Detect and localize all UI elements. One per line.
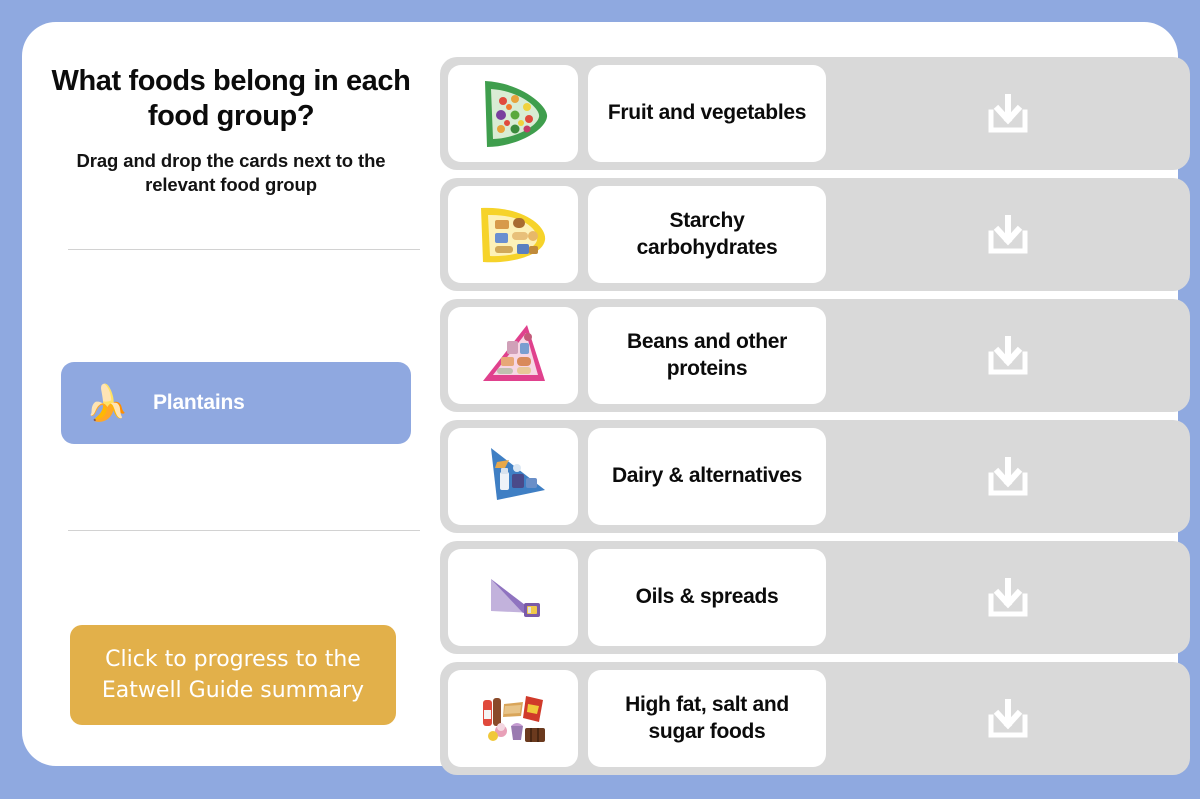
food-group-label: High fat, salt and sugar foods xyxy=(598,692,816,746)
download-icon[interactable] xyxy=(985,92,1031,136)
page-subtitle: Drag and drop the cards next to the rele… xyxy=(44,135,418,198)
eatwell-segment-oils-spreads-icon xyxy=(471,561,555,635)
download-icon[interactable] xyxy=(985,697,1031,741)
food-group-label: Starchy carbohydrates xyxy=(598,208,816,262)
progress-to-summary-button[interactable]: Click to progress to the Eatwell Guide s… xyxy=(70,625,396,725)
divider-top xyxy=(68,249,420,250)
food-group-drop-zone[interactable] xyxy=(826,541,1190,654)
food-group-row[interactable]: Fruit and vegetables xyxy=(440,57,1190,170)
food-group-list: Fruit and vegetables xyxy=(440,57,1190,783)
food-group-thumbnail-card xyxy=(448,428,578,525)
food-group-label-card: High fat, salt and sugar foods xyxy=(588,670,826,767)
draggable-card-label: Plantains xyxy=(153,391,245,415)
food-group-thumbnail-card xyxy=(448,549,578,646)
food-group-row[interactable]: Oils & spreads xyxy=(440,541,1190,654)
download-icon[interactable] xyxy=(985,213,1031,257)
download-icon[interactable] xyxy=(985,334,1031,378)
food-group-label: Fruit and vegetables xyxy=(608,100,806,127)
food-group-thumbnail-card xyxy=(448,307,578,404)
food-group-row[interactable]: Dairy & alternatives xyxy=(440,420,1190,533)
food-group-drop-zone[interactable] xyxy=(826,178,1190,291)
eatwell-segment-starchy-carbohydrates-icon xyxy=(471,198,555,272)
draggable-card-plantains[interactable]: 🍌 Plantains xyxy=(61,362,411,444)
banana-icon: 🍌 xyxy=(61,386,153,421)
food-group-label-card: Dairy & alternatives xyxy=(588,428,826,525)
food-group-row[interactable]: Beans and other proteins xyxy=(440,299,1190,412)
instructions-panel: What foods belong in each food group? Dr… xyxy=(44,34,418,754)
page-title: What foods belong in each food group? xyxy=(44,34,418,135)
slide-panel: What foods belong in each food group? Dr… xyxy=(22,22,1178,766)
food-group-label-card: Fruit and vegetables xyxy=(588,65,826,162)
download-icon[interactable] xyxy=(985,576,1031,620)
eatwell-segment-high-fat-salt-sugar-icon xyxy=(471,682,555,756)
food-group-drop-zone[interactable] xyxy=(826,299,1190,412)
food-group-label-card: Beans and other proteins xyxy=(588,307,826,404)
food-group-thumbnail-card xyxy=(448,65,578,162)
eatwell-segment-dairy-alternatives-icon xyxy=(471,440,555,514)
food-group-thumbnail-card xyxy=(448,186,578,283)
food-group-drop-zone[interactable] xyxy=(826,420,1190,533)
food-group-row[interactable]: Starchy carbohydrates xyxy=(440,178,1190,291)
download-icon[interactable] xyxy=(985,455,1031,499)
divider-bottom xyxy=(68,530,420,531)
food-group-row[interactable]: High fat, salt and sugar foods xyxy=(440,662,1190,775)
food-group-label-card: Starchy carbohydrates xyxy=(588,186,826,283)
eatwell-segment-beans-proteins-icon xyxy=(471,319,555,393)
food-group-label: Oils & spreads xyxy=(636,584,779,611)
eatwell-segment-fruit-vegetables-icon xyxy=(471,77,555,151)
food-group-drop-zone[interactable] xyxy=(826,662,1190,775)
food-group-label: Beans and other proteins xyxy=(598,329,816,383)
food-group-thumbnail-card xyxy=(448,670,578,767)
food-group-drop-zone[interactable] xyxy=(826,57,1190,170)
food-group-label-card: Oils & spreads xyxy=(588,549,826,646)
food-group-label: Dairy & alternatives xyxy=(612,463,802,490)
